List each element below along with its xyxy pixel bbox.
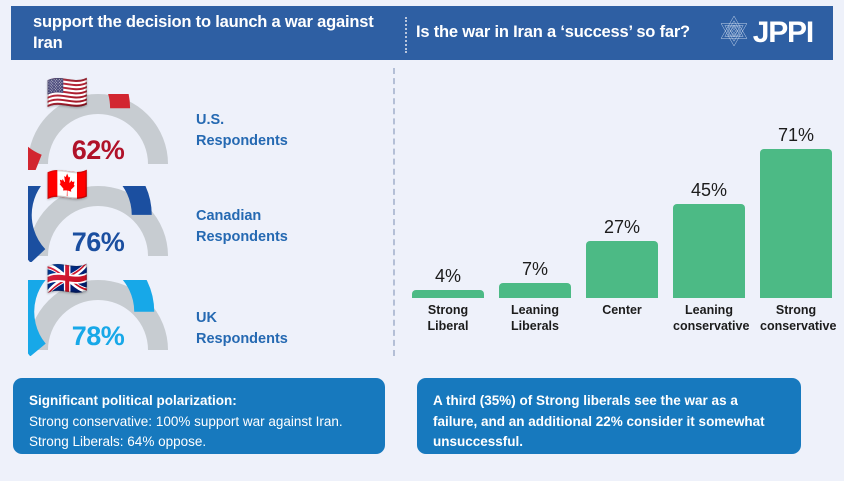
header-band: support the decision to launch a war aga… bbox=[11, 6, 833, 60]
bar-series: 4%7%27%45%71% bbox=[412, 98, 832, 298]
bar-value-label: 7% bbox=[522, 259, 548, 280]
callout-left-line1: Strong conservative: 100% support war ag… bbox=[29, 412, 369, 433]
bar-category-line: Leaning bbox=[673, 302, 745, 318]
header-left-title: support the decision to launch a war aga… bbox=[33, 12, 394, 55]
bar-column: 7% bbox=[499, 98, 571, 298]
jppi-logo: JPPI bbox=[717, 14, 813, 53]
bar-value-label: 45% bbox=[691, 180, 727, 201]
bar-category-label: LeaningLiberals bbox=[499, 302, 571, 348]
callout-right-text: A third (35%) of Strong liberals see the… bbox=[433, 391, 785, 453]
bar-value-label: 71% bbox=[778, 125, 814, 146]
header-right: Is the war in Iran a ‘success’ so far? bbox=[394, 14, 833, 53]
bar bbox=[586, 241, 658, 298]
header-right-title: Is the war in Iran a ‘success’ so far? bbox=[416, 22, 690, 43]
gauge-row-uk: 🇬🇧 78% UK Respondents bbox=[28, 264, 378, 356]
star-of-david-icon bbox=[717, 14, 751, 53]
gauge-us-label-line1: U.S. bbox=[196, 110, 288, 131]
gauge-us: 🇺🇸 62% bbox=[28, 82, 168, 170]
bar-category-label: Strongconservative bbox=[760, 302, 832, 348]
gauge-uk-label-line1: UK bbox=[196, 308, 288, 329]
header-divider bbox=[405, 17, 407, 53]
bar bbox=[760, 149, 832, 298]
gauge-canada-label-line2: Respondents bbox=[196, 227, 288, 248]
callout-polarization: Significant political polarization: Stro… bbox=[13, 378, 385, 454]
gauge-canada-label-line1: Canadian bbox=[196, 206, 288, 227]
panel-divider bbox=[393, 68, 395, 356]
gauge-us-label: U.S. Respondents bbox=[168, 110, 288, 170]
header-left: support the decision to launch a war aga… bbox=[11, 12, 394, 55]
infographic-root: support the decision to launch a war aga… bbox=[0, 0, 844, 481]
bar-category-label: StrongLiberal bbox=[412, 302, 484, 348]
bar-category-line: Strong bbox=[412, 302, 484, 318]
logo-wordmark: JPPI bbox=[753, 18, 813, 48]
callout-left-heading: Significant political polarization: bbox=[29, 391, 369, 412]
callout-liberals-failure: A third (35%) of Strong liberals see the… bbox=[417, 378, 801, 454]
bar-value-label: 27% bbox=[604, 217, 640, 238]
bar bbox=[499, 283, 571, 298]
bar-category-axis: StrongLiberalLeaningLiberalsCenterLeanin… bbox=[412, 302, 832, 348]
flag-canada: 🇨🇦 bbox=[46, 168, 88, 202]
bar-category-label: Leaningconservative bbox=[673, 302, 745, 348]
bar-column: 45% bbox=[673, 98, 745, 298]
gauge-uk: 🇬🇧 78% bbox=[28, 268, 168, 356]
gauge-canada-value: 76% bbox=[28, 227, 168, 258]
bar-column: 71% bbox=[760, 98, 832, 298]
flag-united-states: 🇺🇸 bbox=[46, 76, 88, 110]
bar-category-line: Liberal bbox=[412, 318, 484, 334]
bar bbox=[673, 204, 745, 299]
gauge-canada-label: Canadian Respondents bbox=[168, 206, 288, 262]
bar-category-line: Center bbox=[586, 302, 658, 318]
callout-left-line2: Strong Liberals: 64% oppose. bbox=[29, 432, 369, 453]
gauge-canada: 🇨🇦 76% bbox=[28, 174, 168, 262]
gauge-uk-label-line2: Respondents bbox=[196, 329, 288, 350]
bar-category-line: conservative bbox=[673, 318, 745, 334]
gauge-us-label-line2: Respondents bbox=[196, 131, 288, 152]
bar-column: 4% bbox=[412, 98, 484, 298]
gauge-us-value: 62% bbox=[28, 135, 168, 166]
flag-united-kingdom: 🇬🇧 bbox=[46, 262, 88, 296]
bar-category-label: Center bbox=[586, 302, 658, 348]
bar-column: 27% bbox=[586, 98, 658, 298]
bar-category-line: Strong bbox=[760, 302, 832, 318]
gauge-row-us: 🇺🇸 62% U.S. Respondents bbox=[28, 78, 378, 170]
bar-category-line: Leaning bbox=[499, 302, 571, 318]
success-bar-chart: 4%7%27%45%71% StrongLiberalLeaningLibera… bbox=[412, 74, 832, 356]
gauge-row-canada: 🇨🇦 76% Canadian Respondents bbox=[28, 170, 378, 262]
bar-category-line: Liberals bbox=[499, 318, 571, 334]
gauge-uk-label: UK Respondents bbox=[168, 308, 288, 356]
bar bbox=[412, 290, 484, 298]
gauge-uk-value: 78% bbox=[28, 321, 168, 352]
bar-value-label: 4% bbox=[435, 266, 461, 287]
bar-category-line: conservative bbox=[760, 318, 832, 334]
